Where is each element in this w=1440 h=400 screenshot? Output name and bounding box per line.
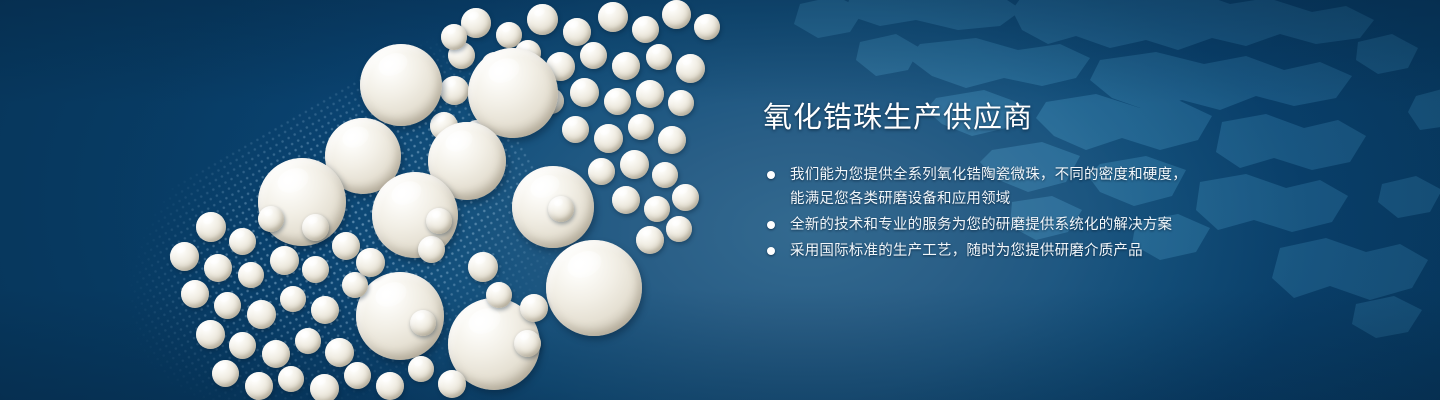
bullet-line: 能满足您各类研磨设备和应用领域 [790,187,1383,211]
bullet-dot-icon [767,247,775,255]
hero-banner: 氧化锆珠生产供应商 我们能为您提供全系列氧化锆陶瓷微珠，不同的密度和硬度， 能满… [0,0,1440,400]
bullet-line: 我们能为您提供全系列氧化锆陶瓷微珠，不同的密度和硬度， [790,163,1383,187]
bullet-dot-icon [767,221,775,229]
bullet-dot-icon [767,171,775,179]
list-item: 全新的技术和专业的服务为您的研磨提供系统化的解决方案 [763,213,1383,237]
feature-bullet-list: 我们能为您提供全系列氧化锆陶瓷微珠，不同的密度和硬度， 能满足您各类研磨设备和应… [763,163,1383,263]
banner-copy-block: 氧化锆珠生产供应商 我们能为您提供全系列氧化锆陶瓷微珠，不同的密度和硬度， 能满… [763,104,1383,265]
list-item: 我们能为您提供全系列氧化锆陶瓷微珠，不同的密度和硬度， 能满足您各类研磨设备和应… [763,163,1383,211]
list-item: 采用国际标准的生产工艺，随时为您提供研磨介质产品 [763,239,1383,263]
bullet-line: 采用国际标准的生产工艺，随时为您提供研磨介质产品 [790,239,1383,263]
bullet-line: 全新的技术和专业的服务为您的研磨提供系统化的解决方案 [790,213,1383,237]
page-title: 氧化锆珠生产供应商 [763,104,1383,133]
